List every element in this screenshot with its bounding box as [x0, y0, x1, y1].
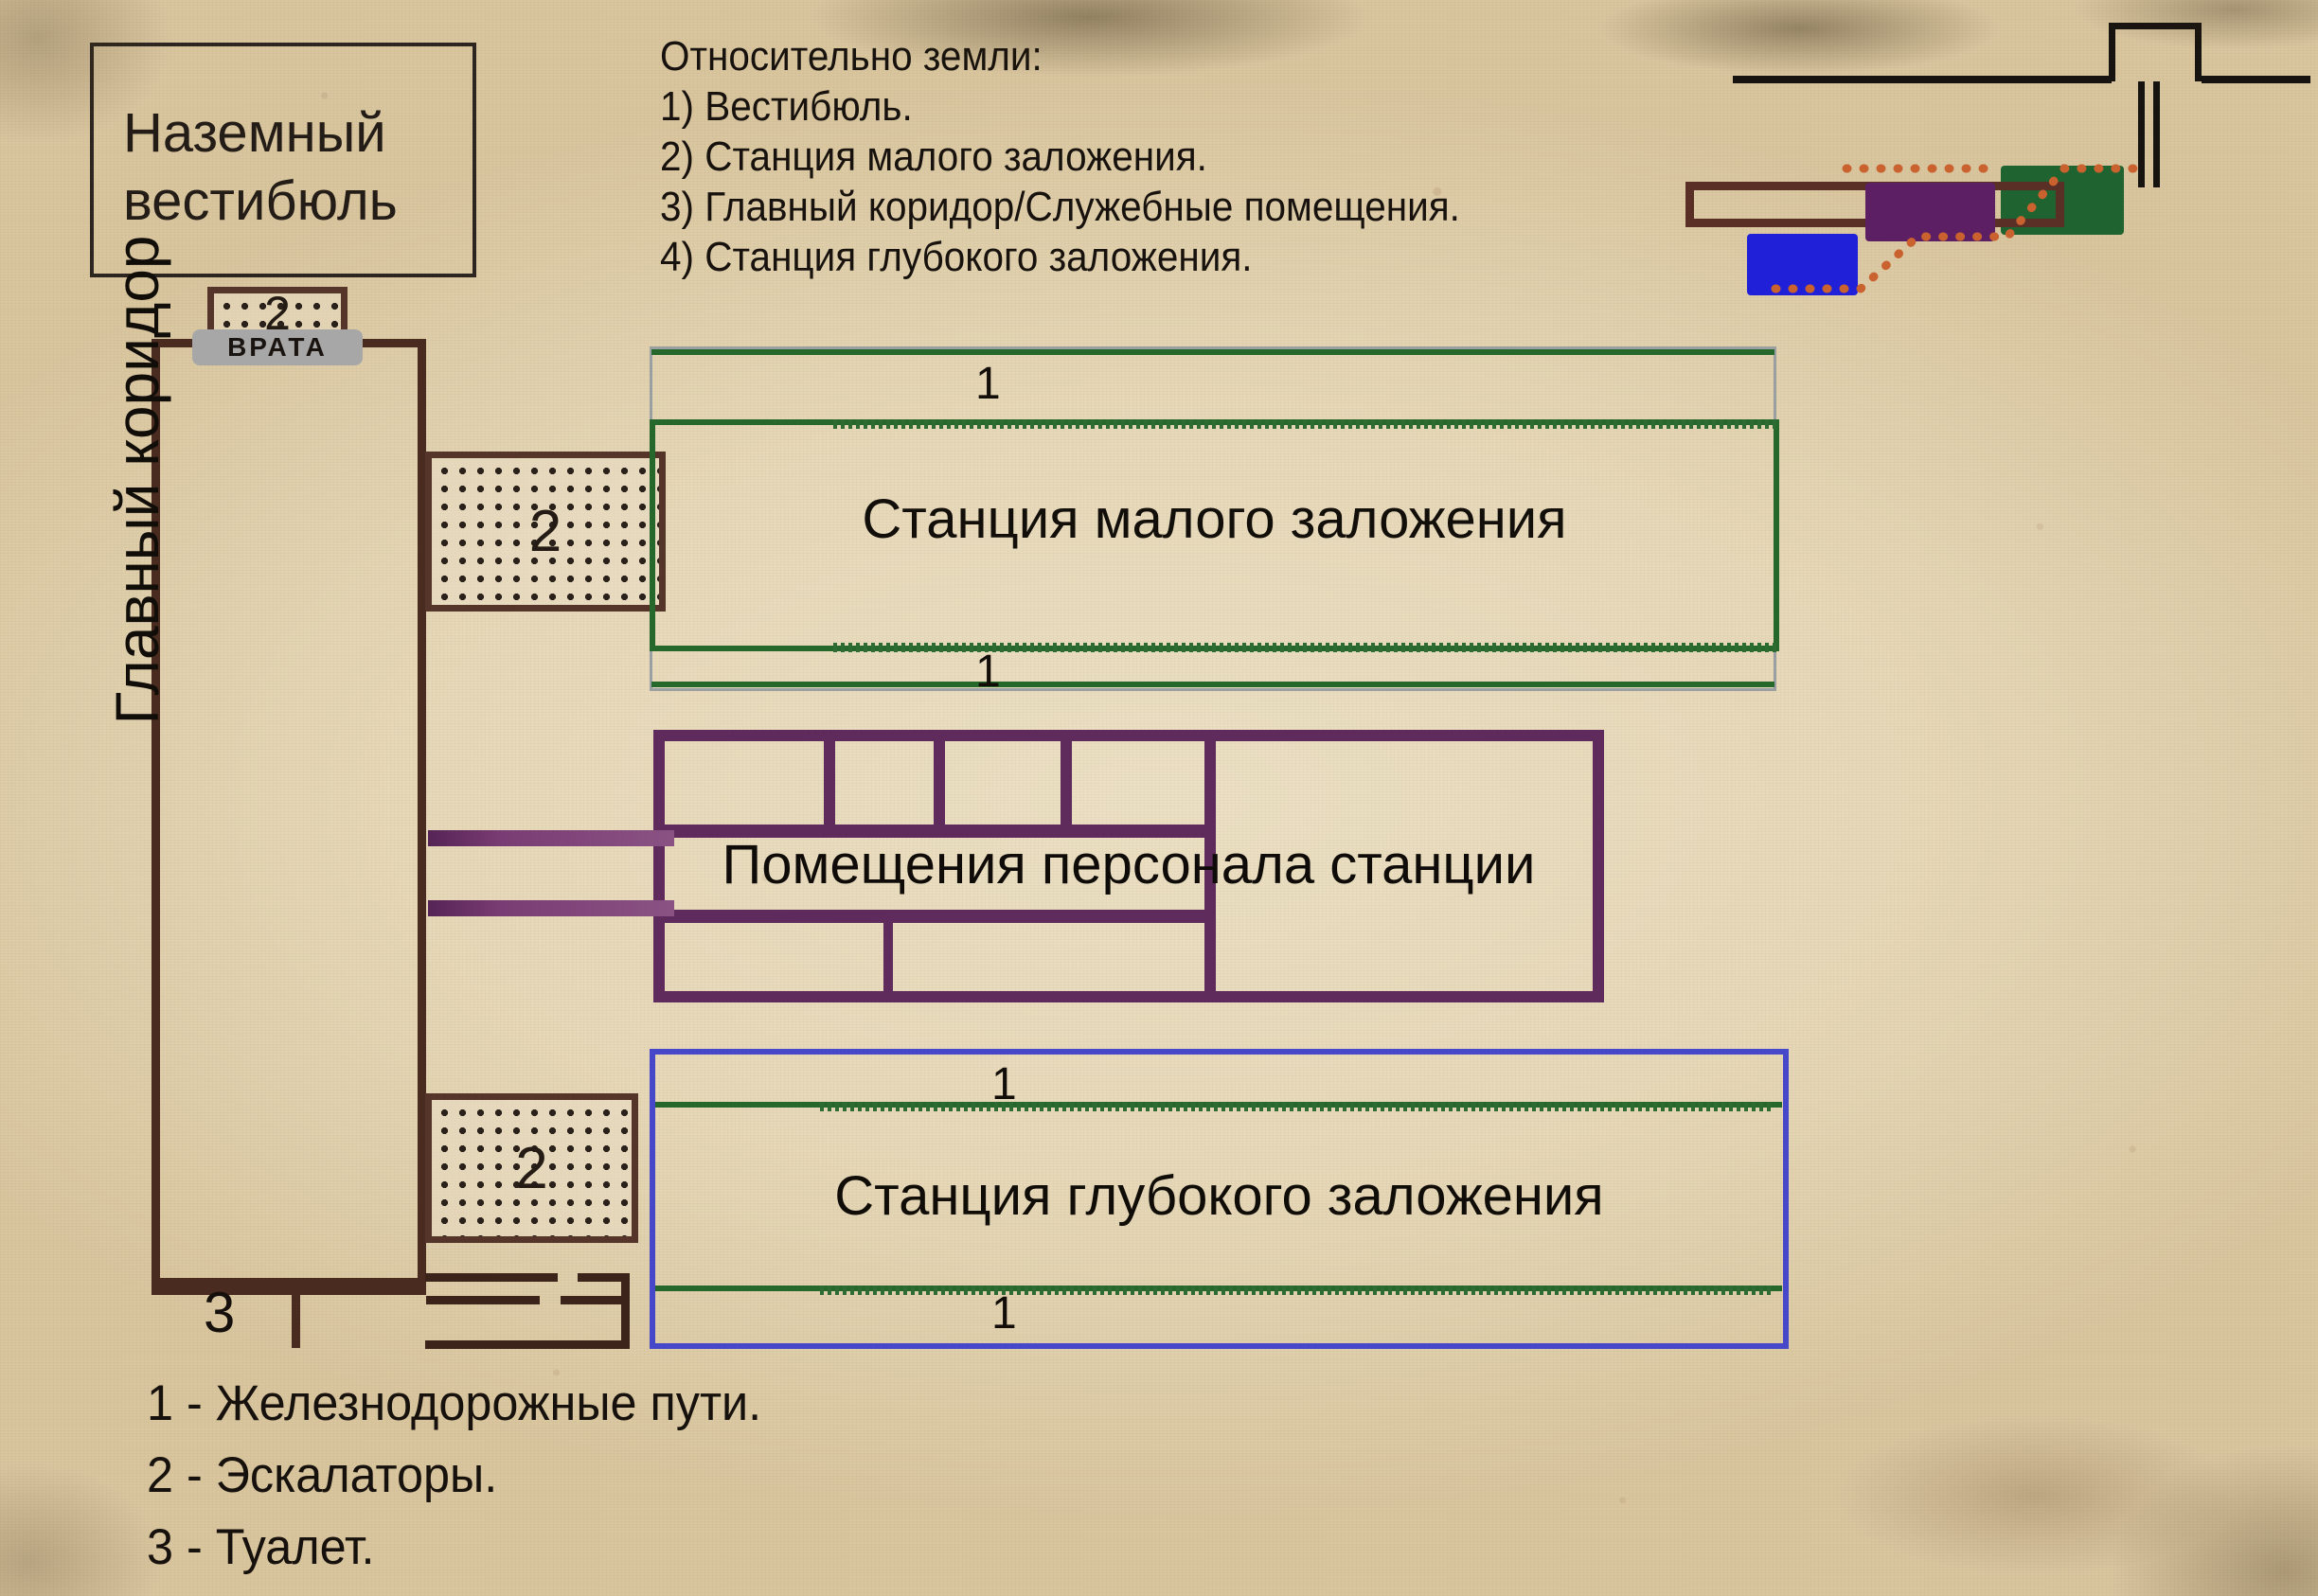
shallow-rail-hatch-top [833, 419, 1780, 429]
deep-rail-hatch-top [820, 1102, 1772, 1111]
corridor-bottom-edge [425, 1340, 630, 1349]
legend-numbers: 1 - Железнодорожные пути. 2 - Эскалаторы… [147, 1368, 761, 1584]
staff-connector-lower [428, 900, 674, 916]
toilet-inner-wall [292, 1286, 300, 1348]
corridor-stub-1 [425, 1273, 558, 1282]
legend-top-item-3: 3) Главный коридор/Служебные помещения. [660, 182, 1460, 232]
escalator-to-deep-station[interactable]: 2 [425, 1093, 638, 1243]
cross-section-diagram [1685, 9, 2310, 312]
deep-track-number-bottom: 1 [991, 1287, 1017, 1339]
corridor-stub-2 [578, 1273, 625, 1282]
legend-top-heading: Относительно земли: [660, 31, 1460, 81]
legend-bottom-item-2: 2 - Эскалаторы. [147, 1440, 761, 1512]
staff-rooms-label: Помещения персонала станции [653, 833, 1604, 896]
corridor-stub-4 [561, 1296, 630, 1304]
escalator-to-shallow-station[interactable]: 2 [425, 452, 666, 612]
legend-top-item-2: 2) Станция малого заложения. [660, 132, 1460, 182]
staff-wall-v3 [1061, 741, 1072, 825]
gate-label-vrata: ВРАТА [192, 329, 363, 365]
shallow-station-label: Станция малого заложения [650, 488, 1779, 551]
toilet-number-label: 3 [204, 1280, 235, 1345]
staff-wall-v1 [824, 741, 835, 825]
corridor-stub-3 [426, 1296, 540, 1304]
staff-wall-v5 [883, 923, 893, 991]
legend-top-item-4: 4) Станция глубокого заложения. [660, 232, 1460, 282]
main-corridor-box [152, 339, 426, 1295]
legend-bottom-item-3: 3 - Туалет. [147, 1512, 761, 1584]
corridor-right-edge [621, 1273, 630, 1349]
blueprint-sheet: Наземный вестибюль Относительно земли: 1… [0, 0, 2318, 1596]
legend-relative-to-ground: Относительно земли: 1) Вестибюль. 2) Ста… [660, 31, 1460, 282]
legend-bottom-item-1: 1 - Железнодорожные пути. [147, 1368, 761, 1440]
staff-connector-upper [428, 830, 674, 846]
staff-wall-h2 [665, 910, 1216, 923]
shallow-station-bottom-rail [651, 682, 1774, 687]
main-corridor-label: Главный коридор [102, 120, 172, 840]
deep-station-label: Станция глубокого заложения [650, 1164, 1789, 1228]
shallow-track-number-top: 1 [975, 358, 1001, 410]
legend-top-item-1: 1) Вестибюль. [660, 81, 1460, 132]
toilet-divider-wall [152, 1278, 426, 1286]
shallow-station-top-rail [651, 349, 1774, 355]
deep-track-number-top: 1 [991, 1058, 1017, 1110]
shallow-track-number-bottom: 1 [975, 646, 1001, 698]
passenger-route-dotted-line [1685, 9, 2310, 312]
staff-wall-v2 [934, 741, 945, 825]
deep-rail-hatch-bottom [820, 1286, 1772, 1295]
